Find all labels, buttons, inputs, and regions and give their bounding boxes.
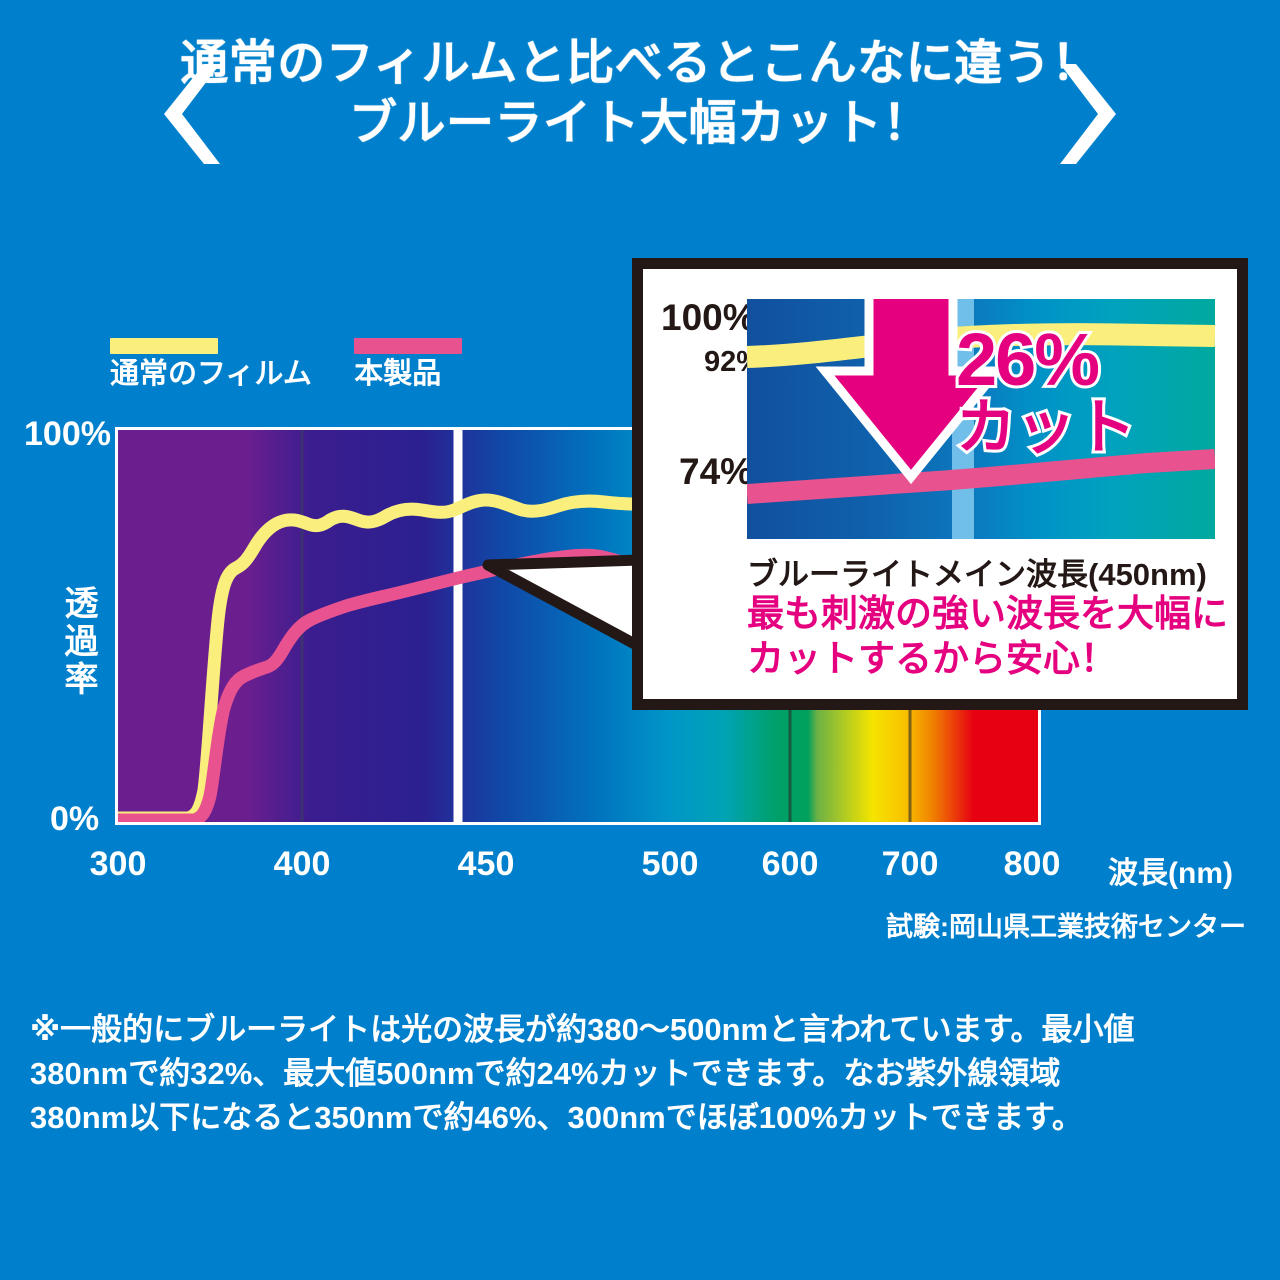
- x-tick-300: 300: [90, 845, 147, 884]
- test-credit-label: 試験:岡山県工業技術センター: [886, 905, 1246, 944]
- x-tick-450: 450: [458, 845, 515, 884]
- footnote-line-2: 380nmで約32%、最大値500nmで約24%カットできます。なお紫外線領域: [30, 1052, 1250, 1096]
- footnote-line-3: 380nm以下になると350nmで約46%、300nmでほぼ100%カットできま…: [30, 1096, 1250, 1140]
- x-tick-600: 600: [762, 845, 819, 884]
- x-tick-400: 400: [274, 845, 331, 884]
- callout-note-emphasis: 最も刺激の強い波長を大幅に カットするから安心！: [747, 591, 1228, 681]
- y-axis-title: 透過率: [54, 585, 103, 699]
- inset-label-100: 100%: [661, 297, 756, 339]
- callout-note-emphasis-line-2: カットするから安心！: [747, 636, 1228, 681]
- y-axis-max-label: 100%: [24, 415, 111, 454]
- x-tick-700: 700: [882, 845, 939, 884]
- inset-label-74: 74%: [679, 451, 753, 493]
- x-tick-800: 800: [1004, 845, 1061, 884]
- y-axis-min-label: 0%: [50, 800, 99, 839]
- footnote-text: ※一般的にブルーライトは光の波長が約380〜500nmと言われています。最小値 …: [30, 1008, 1250, 1140]
- callout-box: 100% 92% 74%: [632, 258, 1248, 710]
- inset-chart-svg: [747, 299, 1215, 539]
- footnote-line-1: ※一般的にブルーライトは光の波長が約380〜500nmと言われています。最小値: [30, 1008, 1250, 1052]
- callout-note-wavelength: ブルーライトメイン波長(450nm): [747, 549, 1207, 594]
- infographic-root: 通常のフィルムと比べるとこんなに違う！ ブルーライト大幅カット！ 通常のフィルム…: [0, 0, 1280, 1280]
- x-tick-500: 500: [642, 845, 699, 884]
- callout-note-emphasis-line-1: 最も刺激の強い波長を大幅に: [747, 591, 1228, 636]
- inset-chart: [747, 299, 1215, 539]
- x-axis-unit-label: 波長(nm): [1108, 848, 1233, 892]
